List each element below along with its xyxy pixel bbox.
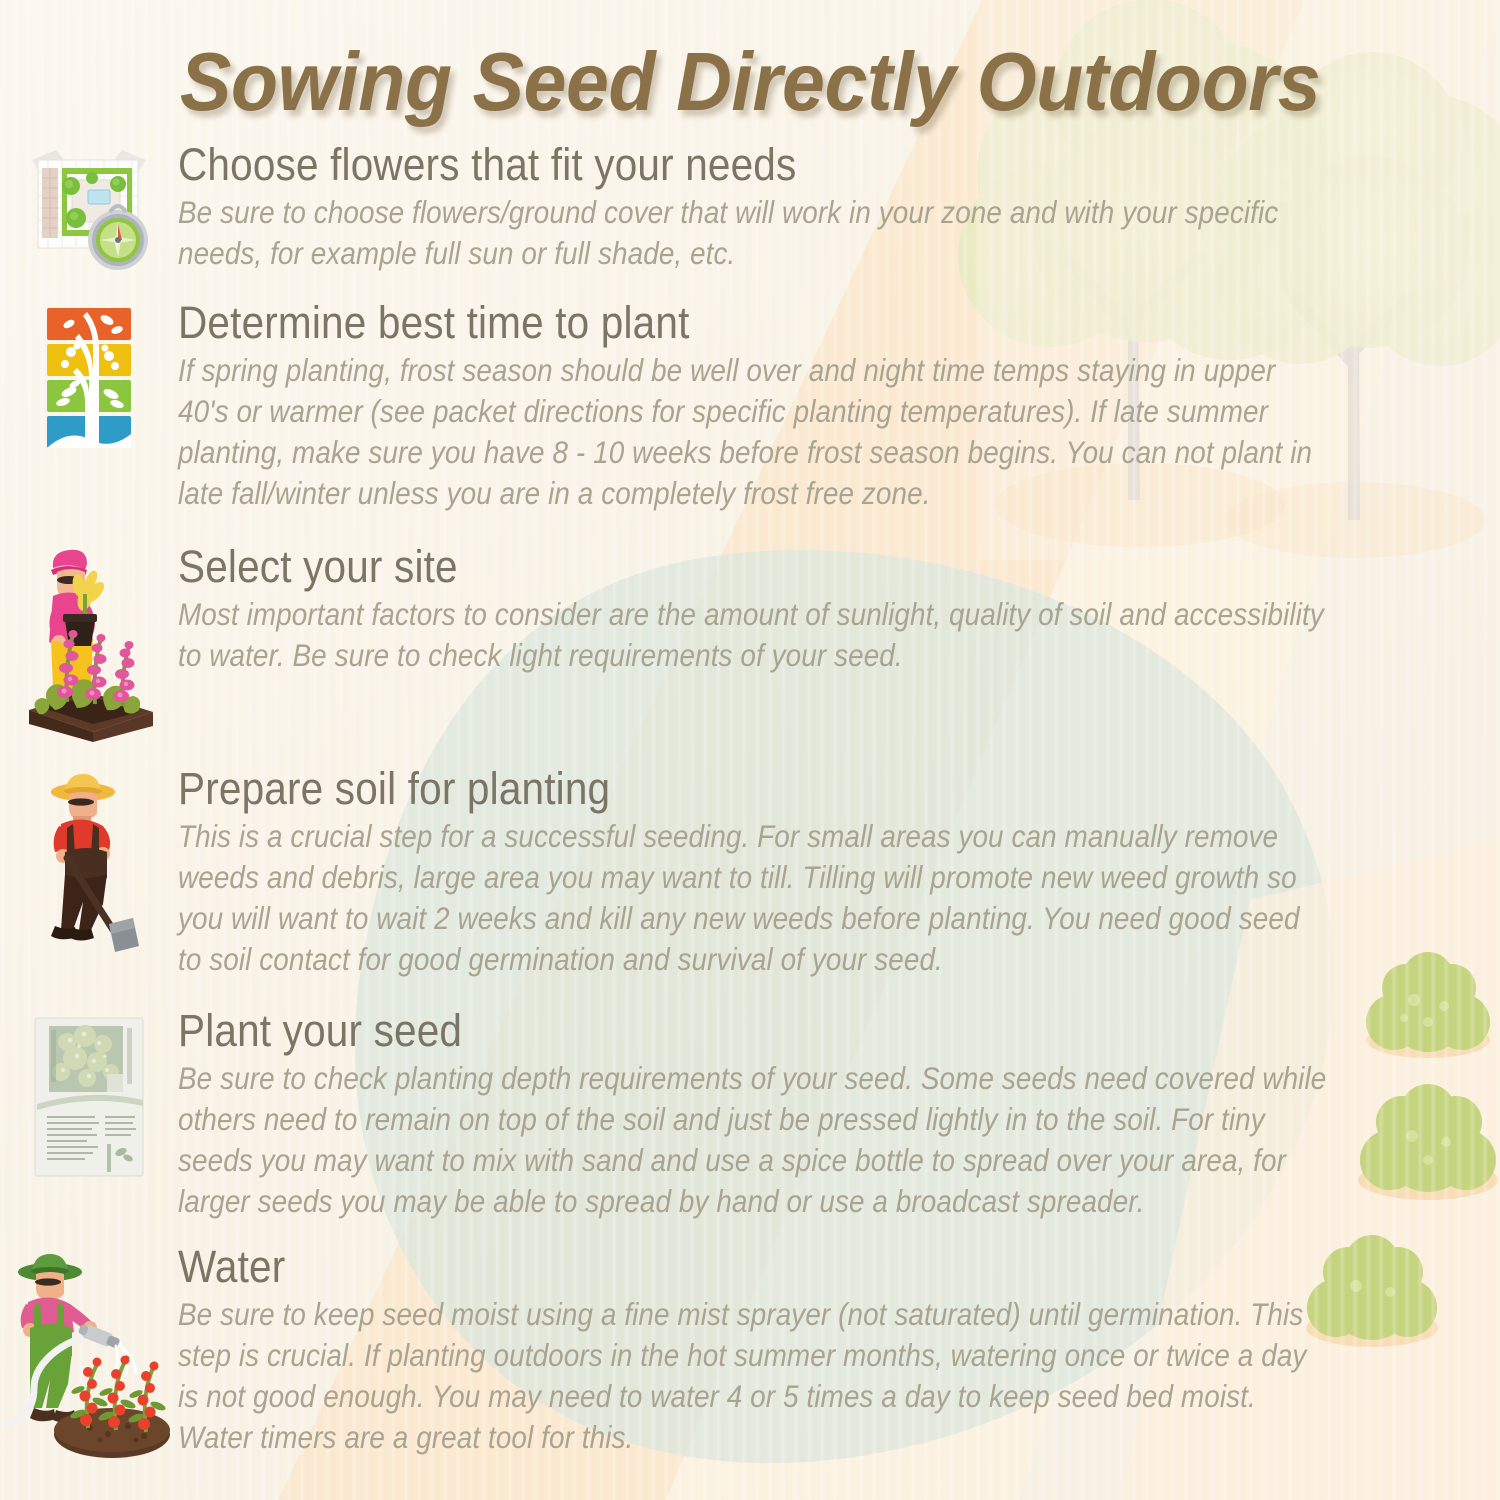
gardener-with-potted-plant-icon [19, 542, 159, 742]
step-body: Be sure to keep seed moist using a fine … [178, 1294, 1327, 1458]
infographic-poster: Sowing Seed Directly Outdoors [0, 0, 1500, 1500]
step-heading: Determine best time to plant [178, 298, 1346, 348]
step-icon-container [0, 1242, 178, 1463]
four-seasons-tree-icon [39, 306, 139, 456]
step-text-container: Prepare soil for planting This is a cruc… [178, 764, 1500, 980]
step-heading: Select your site [178, 542, 1346, 592]
step-heading: Prepare soil for planting [178, 764, 1346, 814]
step-text-container: Determine best time to plant If spring p… [178, 298, 1500, 514]
step-item: Water Be sure to keep seed moist using a… [0, 1242, 1500, 1463]
step-text-container: Choose flowers that fit your needs Be su… [178, 140, 1500, 274]
title-container: Sowing Seed Directly Outdoors [0, 34, 1500, 130]
step-icon-container [0, 764, 178, 958]
step-body: This is a crucial step for a successful … [178, 816, 1327, 980]
step-item: Choose flowers that fit your needs Be su… [0, 140, 1500, 274]
step-body: Most important factors to consider are t… [178, 594, 1327, 676]
step-item: Select your site Most important factors … [0, 542, 1500, 742]
page-title: Sowing Seed Directly Outdoors [180, 34, 1320, 130]
step-item: Plant your seed Be sure to check plantin… [0, 1006, 1500, 1222]
step-icon-container [0, 140, 178, 272]
step-heading: Water [178, 1242, 1346, 1292]
step-icon-container [0, 298, 178, 456]
step-text-container: Select your site Most important factors … [178, 542, 1500, 676]
farmer-digging-with-shovel-icon [29, 768, 149, 958]
step-text-container: Water Be sure to keep seed moist using a… [178, 1242, 1500, 1458]
step-item: Prepare soil for planting This is a cruc… [0, 764, 1500, 980]
step-heading: Plant your seed [178, 1006, 1346, 1056]
steps-list: Choose flowers that fit your needs Be su… [0, 140, 1500, 1463]
step-icon-container [0, 1006, 178, 1182]
step-heading: Choose flowers that fit your needs [178, 140, 1346, 190]
step-body: If spring planting, frost season should … [178, 350, 1327, 514]
gardener-watering-with-hose-icon [4, 1248, 174, 1463]
step-body: Be sure to check planting depth requirem… [178, 1058, 1327, 1222]
step-icon-container [0, 542, 178, 742]
step-item: Determine best time to plant If spring p… [0, 298, 1500, 514]
step-text-container: Plant your seed Be sure to check plantin… [178, 1006, 1500, 1222]
step-body: Be sure to choose flowers/ground cover t… [178, 192, 1327, 274]
seed-packet-icon [27, 1012, 151, 1182]
garden-plan-compass-icon [26, 146, 152, 272]
